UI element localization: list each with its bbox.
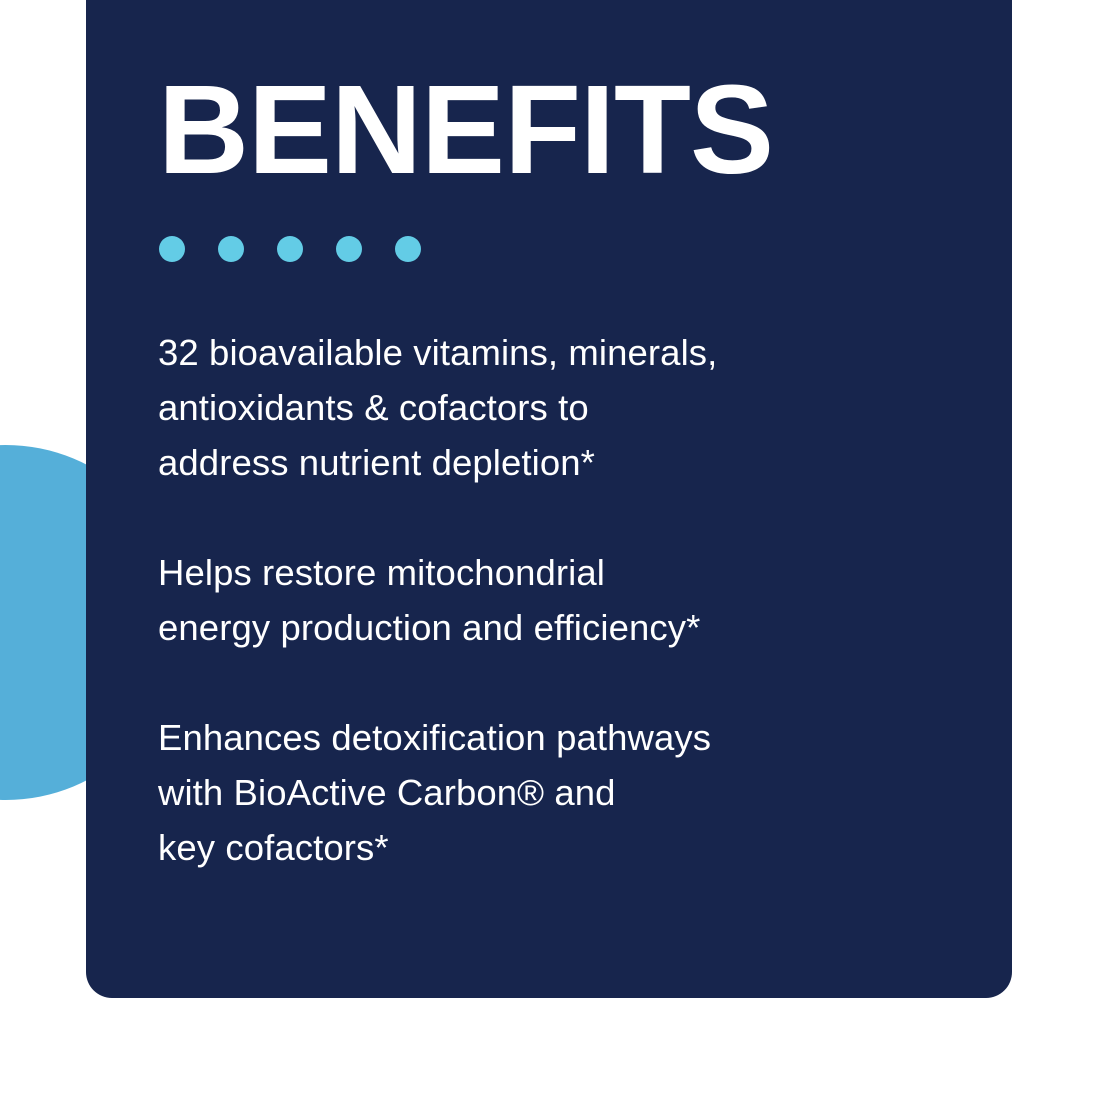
divider-dot-icon — [395, 236, 421, 262]
benefits-list: 32 bioavailable vitamins, minerals, anti… — [158, 325, 958, 875]
divider-dot-icon — [159, 236, 185, 262]
benefits-card-content: BENEFITS 32 bioavailable vitamins, miner… — [158, 0, 982, 998]
benefits-card: BENEFITS 32 bioavailable vitamins, miner… — [86, 0, 1012, 998]
divider-dot-icon — [277, 236, 303, 262]
dot-divider — [159, 236, 421, 262]
divider-dot-icon — [218, 236, 244, 262]
benefit-item: Enhances detoxification pathways with Bi… — [158, 710, 958, 875]
page-title: BENEFITS — [158, 72, 773, 188]
benefit-item: 32 bioavailable vitamins, minerals, anti… — [158, 325, 958, 490]
benefits-panel-stage: BENEFITS 32 bioavailable vitamins, miner… — [0, 0, 1100, 1100]
divider-dot-icon — [336, 236, 362, 262]
benefit-item: Helps restore mitochondrial energy produ… — [158, 545, 958, 655]
